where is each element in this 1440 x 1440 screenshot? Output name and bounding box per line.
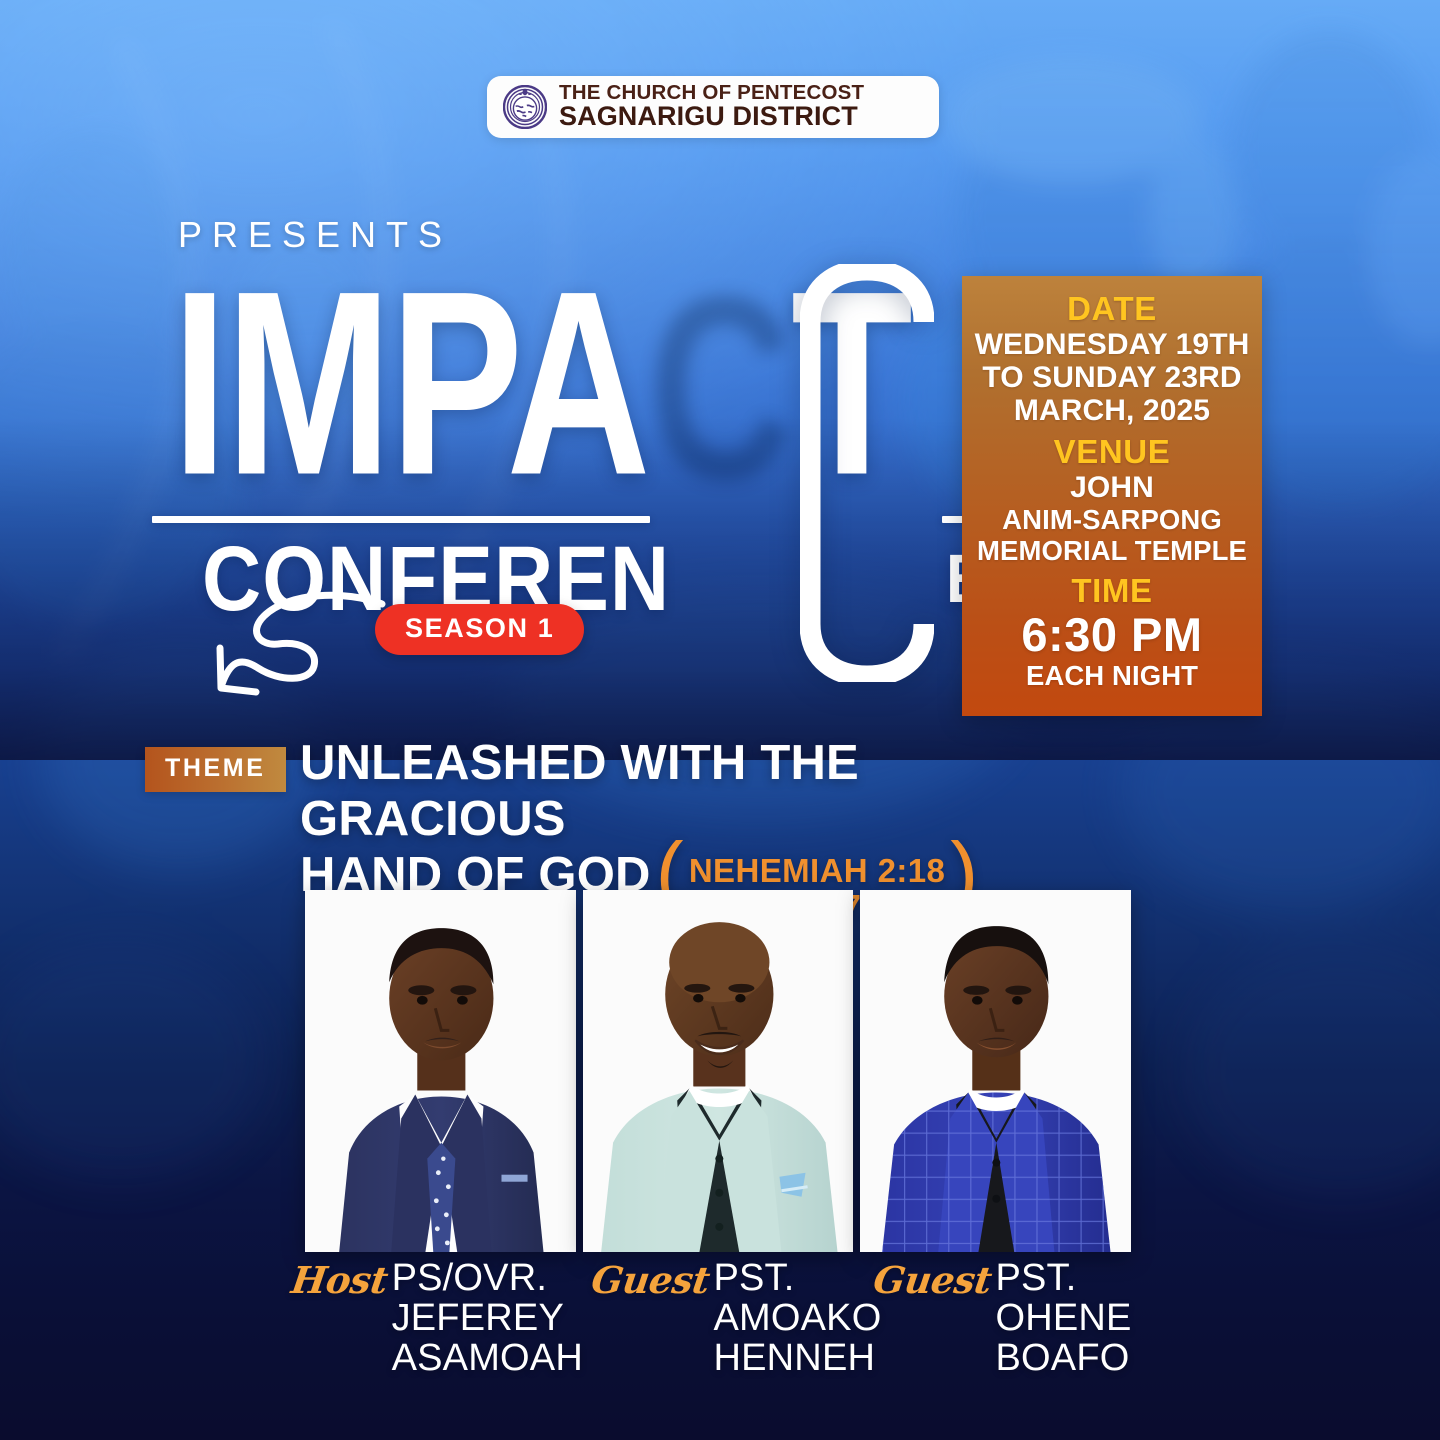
speaker-3-line-1: PST. [995, 1257, 1076, 1299]
speaker-fullname-3: PST. OHENE BOAFO [991, 1258, 1131, 1378]
date-line-2: TO SUNDAY 23RD [970, 361, 1254, 394]
church-logo-banner: THE CHURCH OF PENTECOST SAGNARIGU DISTRI… [487, 76, 939, 138]
speaker-1-line-3: ASAMOAH [392, 1337, 583, 1379]
speaker-2-line-1: PST. [713, 1257, 794, 1299]
event-details-box: DATE WEDNESDAY 19TH TO SUNDAY 23RD MARCH… [962, 276, 1262, 716]
time-value: 6:30 PM [970, 610, 1254, 660]
speaker-1-line-2: JEFEREY [392, 1297, 564, 1339]
speaker-role-2: Guest [589, 1258, 712, 1300]
title-divider-left [152, 516, 650, 523]
venue-line-3: MEMORIAL TEMPLE [970, 535, 1254, 566]
oversized-c-letter [800, 264, 934, 682]
venue-label: VENUE [970, 433, 1254, 471]
time-label: TIME [970, 572, 1254, 610]
impact-title-prefix: IMPA [172, 238, 649, 530]
speaker-name-block-2: Guest PST. AMOAKO HENNEH [592, 1258, 874, 1388]
speaker-photo-jeferey-asamoah [305, 890, 576, 1252]
speaker-fullname-1: PS/OVR. JEFEREY ASAMOAH [388, 1258, 583, 1378]
speaker-photo-strip [305, 890, 1131, 1252]
pentecost-globe-dove-icon [503, 85, 547, 129]
date-line-1: WEDNESDAY 19TH [970, 328, 1254, 361]
date-label: DATE [970, 290, 1254, 328]
speaker-name-block-1: Host PS/OVR. JEFEREY ASAMOAH [292, 1258, 592, 1388]
speaker-role-3: Guest [871, 1258, 994, 1300]
scripture-ref-1: NEHEMIAH 2:18 [689, 852, 945, 889]
season-badge: SEASON 1 [375, 604, 584, 655]
time-note: EACH NIGHT [970, 660, 1254, 691]
speaker-2-line-2: AMOAKO [713, 1297, 881, 1339]
venue-line-2: ANIM-SARPONG [970, 504, 1254, 535]
venue-line-1: JOHN [970, 471, 1254, 504]
impact-title-c-slot: C [649, 238, 791, 530]
speaker-3-line-3: BOAFO [995, 1337, 1129, 1379]
speaker-2-line-3: HENNEH [713, 1337, 875, 1379]
theme-badge: THEME [145, 747, 286, 792]
speaker-photo-amoako-henneh [583, 890, 854, 1252]
speaker-fullname-2: PST. AMOAKO HENNEH [709, 1258, 881, 1378]
speaker-1-line-1: PS/OVR. [392, 1257, 548, 1299]
speaker-3-line-2: OHENE [995, 1297, 1131, 1339]
district-name: SAGNARIGU DISTRICT [559, 101, 858, 131]
speaker-role-1: Host [289, 1258, 390, 1300]
curved-loop-arrow-icon [196, 588, 396, 708]
speaker-name-block-3: Guest PST. OHENE BOAFO [874, 1258, 1142, 1388]
impact-conference-wordmark: IMPACT CONFEREN E [152, 258, 952, 618]
speaker-names-row: Host PS/OVR. JEFEREY ASAMOAH Guest PST. … [292, 1258, 1142, 1388]
date-line-3: MARCH, 2025 [970, 394, 1254, 427]
speaker-photo-ohene-boafo [860, 890, 1131, 1252]
event-flyer: THE CHURCH OF PENTECOST SAGNARIGU DISTRI… [0, 0, 1440, 1440]
